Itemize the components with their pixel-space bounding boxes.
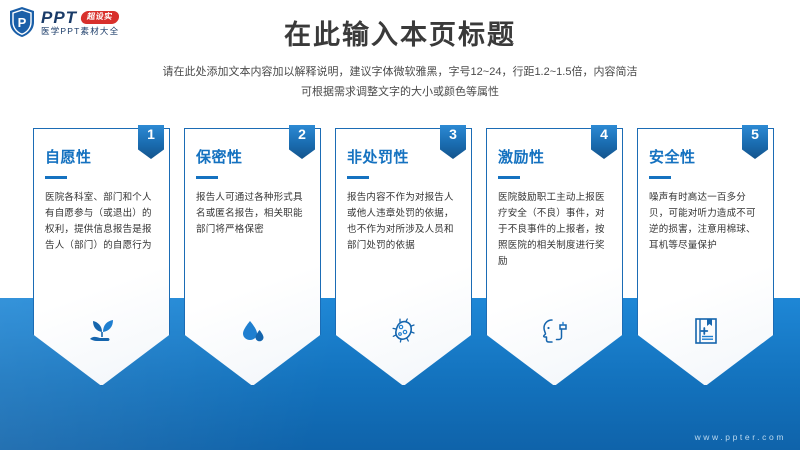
card-body: 噪声有时高达一百多分贝，可能对听力造成不可逆的损害，注意用棉球、耳机等尽量保护 [649, 190, 764, 254]
card-number: 5 [742, 127, 768, 141]
card-row: 1 自愿性 医院各科室、部门和个人有自愿参与（或退出）的权利，提供信息报告是报告… [33, 128, 775, 388]
card-item[interactable]: 3 非处罚性 报告内容不作为对报告人或他人违章处罚的依据，也不作为对所涉及人员和… [335, 128, 472, 386]
bacteria-icon [335, 314, 472, 348]
title-divider [45, 176, 67, 179]
inhaler-face-icon [486, 314, 623, 348]
title-divider [649, 176, 671, 179]
medical-book-icon [637, 314, 774, 348]
card-body: 医院鼓励职工主动上报医疗安全（不良）事件，对于不良事件的上报者，按照医院的相关制… [498, 190, 613, 270]
title-divider [498, 176, 520, 179]
footer-url: www.ppter.com [695, 432, 786, 442]
card-number-badge: 2 [289, 125, 315, 159]
card-number: 2 [289, 127, 315, 141]
card-body: 医院各科室、部门和个人有自愿参与（或退出）的权利，提供信息报告是报告人（部门）的… [45, 190, 160, 254]
page-subtitle-line-2: 可根据需求调整文字的大小或颜色等属性 [0, 82, 800, 102]
slide-canvas: P PPT 超设实 医学PPT素材大全 在此输入本页标题 请在此处添加文本内容加… [0, 0, 800, 450]
page-subtitle-line-1: 请在此处添加文本内容加以解释说明，建议字体微软雅黑，字号12~24，行距1.2~… [0, 62, 800, 82]
card-number: 1 [138, 127, 164, 141]
card-number-badge: 1 [138, 125, 164, 159]
title-divider [196, 176, 218, 179]
card-item[interactable]: 2 保密性 报告人可通过各种形式具名或匿名报告，相关职能部门将严格保密 [184, 128, 321, 386]
card-body: 报告内容不作为对报告人或他人违章处罚的依据，也不作为对所涉及人员和部门处罚的依据 [347, 190, 462, 254]
card-item[interactable]: 1 自愿性 医院各科室、部门和个人有自愿参与（或退出）的权利，提供信息报告是报告… [33, 128, 170, 386]
card-number-badge: 5 [742, 125, 768, 159]
page-title: 在此输入本页标题 [0, 13, 800, 52]
water-drop-icon [184, 314, 321, 348]
card-number: 3 [440, 127, 466, 141]
card-number: 4 [591, 127, 617, 141]
title-divider [347, 176, 369, 179]
hand-holding-plant-icon [33, 314, 170, 348]
page-subtitle: 请在此处添加文本内容加以解释说明，建议字体微软雅黑，字号12~24，行距1.2~… [0, 62, 800, 102]
card-number-badge: 3 [440, 125, 466, 159]
card-item[interactable]: 4 激励性 医院鼓励职工主动上报医疗安全（不良）事件，对于不良事件的上报者，按照… [486, 128, 623, 386]
card-item[interactable]: 5 安全性 噪声有时高达一百多分贝，可能对听力造成不可逆的损害，注意用棉球、耳机… [637, 128, 774, 386]
card-number-badge: 4 [591, 125, 617, 159]
card-body: 报告人可通过各种形式具名或匿名报告，相关职能部门将严格保密 [196, 190, 311, 238]
